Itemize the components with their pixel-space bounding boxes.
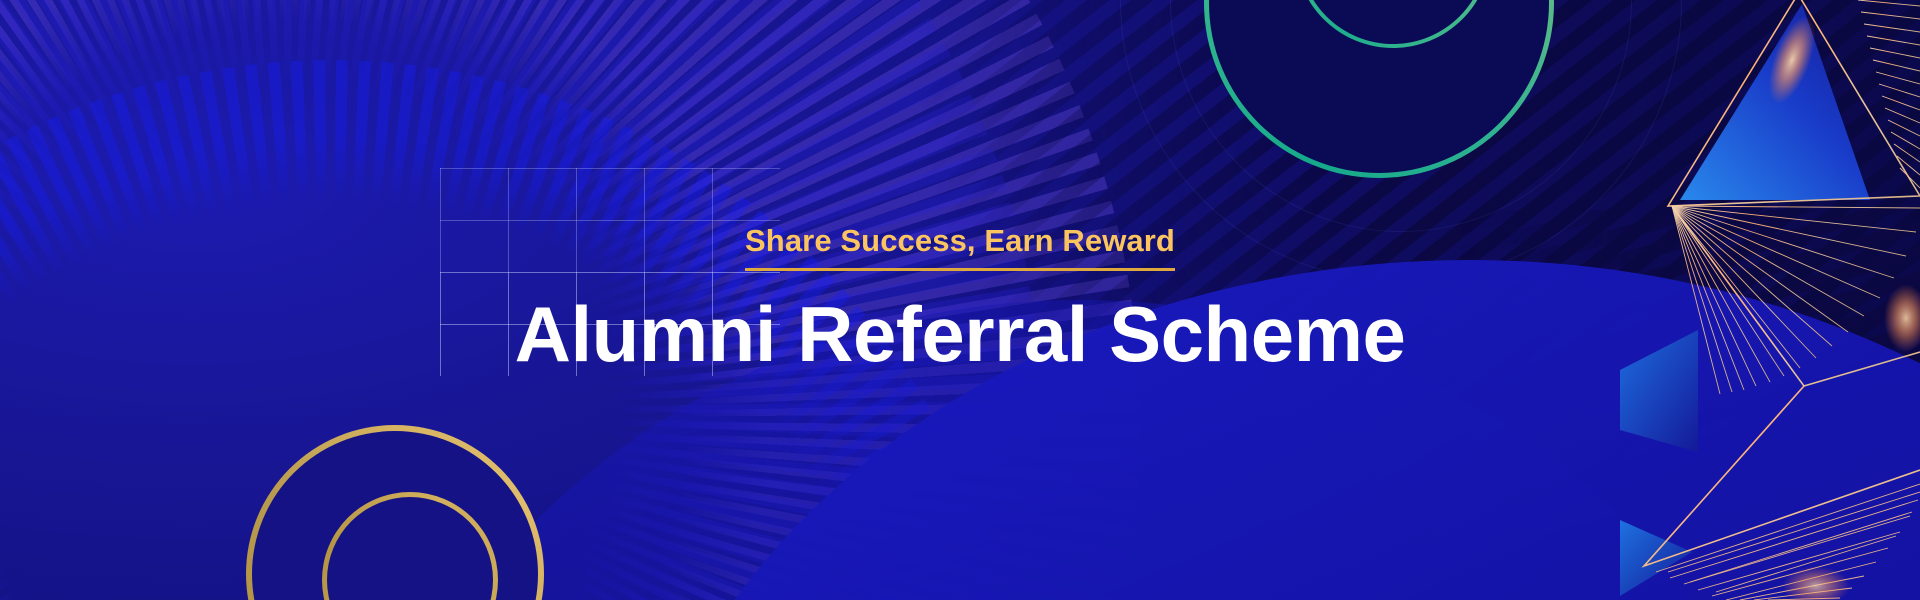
alumni-referral-banner: Share Success, Earn Reward Alumni Referr… (0, 0, 1920, 600)
page-title: Alumni Referral Scheme (515, 293, 1406, 376)
banner-eyebrow: Share Success, Earn Reward (745, 225, 1175, 271)
banner-content: Share Success, Earn Reward Alumni Referr… (0, 0, 1920, 600)
